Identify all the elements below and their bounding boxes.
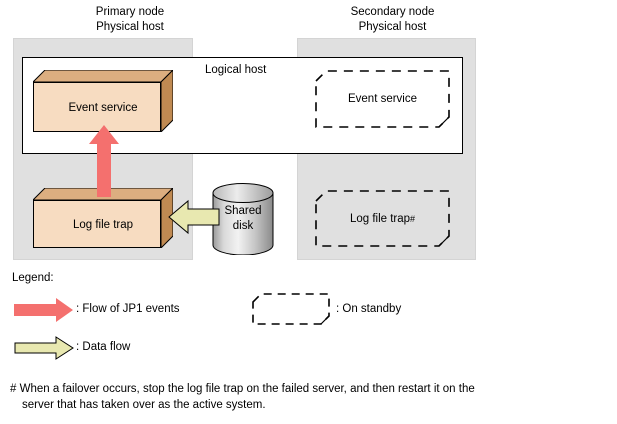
footnote: # When a failover occurs, stop the log f…: [10, 381, 610, 413]
footnote-line-2: server that has taken over as the active…: [10, 397, 610, 413]
legend-standby-icon: [252, 293, 330, 325]
yellow-right-arrow-icon: [14, 336, 74, 360]
legend-data-flow-label: : Data flow: [76, 341, 130, 353]
shared-disk-cylinder: Shared disk: [212, 183, 274, 255]
dashed-rectangle-icon: [252, 293, 330, 325]
standby-dashed-shape: [315, 190, 450, 247]
legend-jp1-flow-label: : Flow of JP1 events: [76, 303, 180, 315]
yellow-left-arrow-icon: [168, 198, 220, 236]
logical-host-label: Logical host: [205, 64, 266, 76]
footnote-line-1: # When a failover occurs, stop the log f…: [10, 383, 475, 395]
standby-dashed-shape: [315, 70, 450, 128]
cylinder-shape: [212, 183, 274, 255]
data-flow-arrow: [168, 198, 220, 236]
primary-event-service-box: Event service: [33, 70, 173, 132]
legend-jp1-flow-icon: [14, 298, 74, 322]
legend-title: Legend:: [12, 272, 54, 284]
jp1-event-flow-arrow: [88, 125, 120, 197]
primary-node-caption: Primary node Physical host: [50, 5, 210, 35]
secondary-node-caption: Secondary node Physical host: [300, 5, 485, 35]
secondary-log-file-trap-box: Log file trap#: [315, 190, 450, 247]
diagram-canvas: Primary node Physical host Secondary nod…: [0, 0, 617, 424]
legend-data-flow-icon: [14, 336, 74, 360]
red-up-arrow-icon: [88, 125, 120, 197]
legend-standby-label: : On standby: [336, 303, 401, 315]
secondary-event-service-box: Event service: [315, 70, 450, 128]
red-right-arrow-icon: [14, 298, 74, 322]
event-service-3d-shape: [33, 70, 173, 132]
